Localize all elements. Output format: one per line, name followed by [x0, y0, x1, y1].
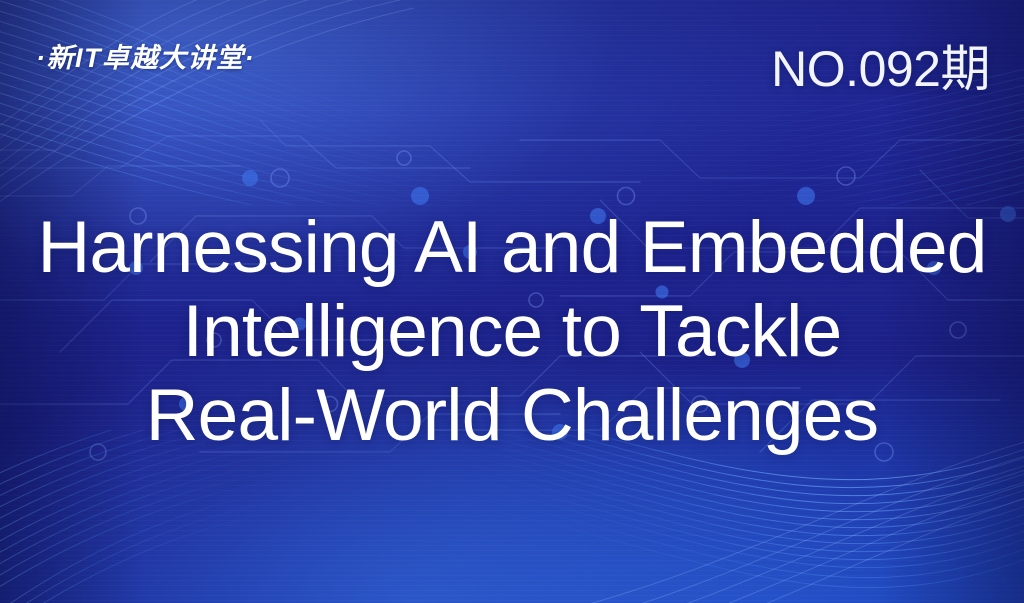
brand-logo: ·新IT卓越大讲堂·	[36, 38, 255, 78]
title-line-1: Harnessing AI and Embedded	[26, 206, 998, 290]
title-line-2: Intelligence to Tackle	[26, 290, 998, 374]
issue-number-label: NO.092期	[771, 40, 990, 98]
page-title: Harnessing AI and Embedded Intelligence …	[0, 206, 1024, 458]
seminar-banner: ·新IT卓越大讲堂· NO.092期 Harnessing AI and Emb…	[0, 0, 1024, 603]
title-line-3: Real-World Challenges	[26, 374, 998, 458]
